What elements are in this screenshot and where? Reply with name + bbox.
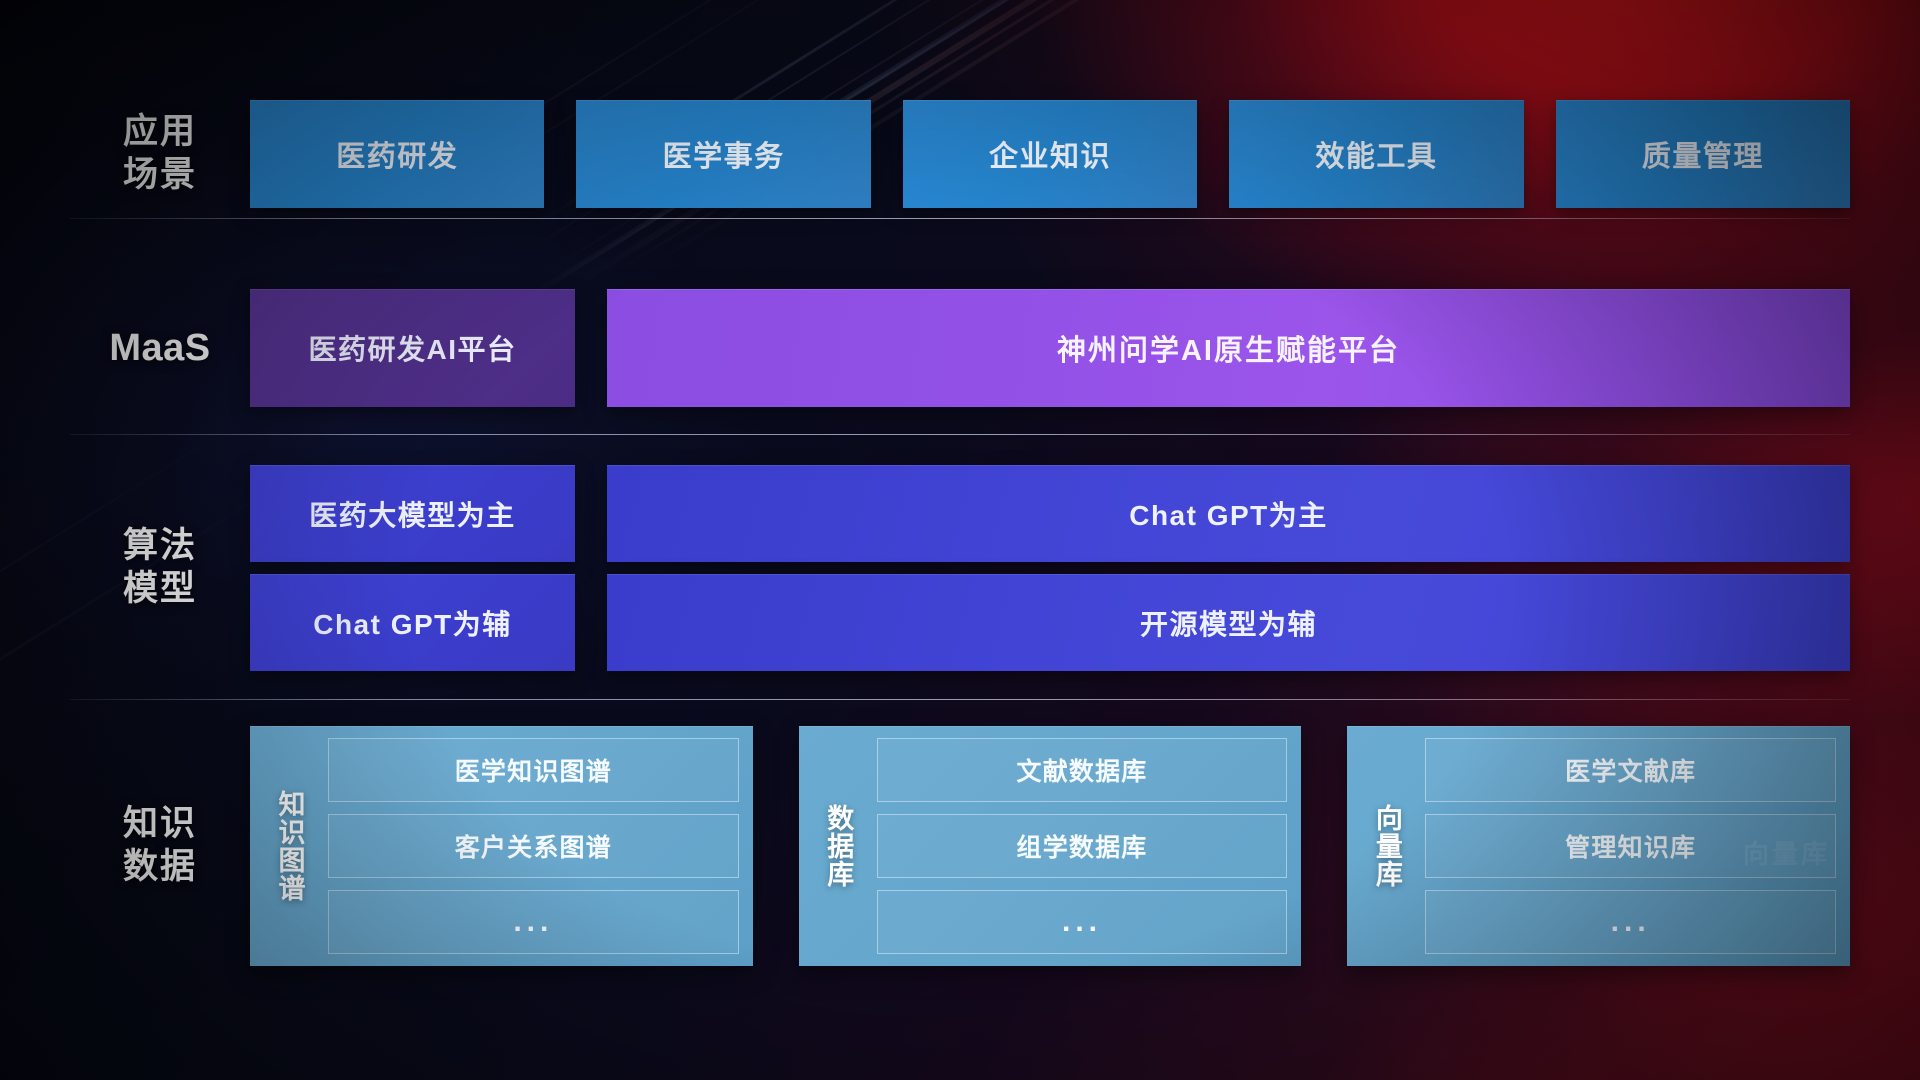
knowledge-item[interactable]: 文献数据库	[877, 738, 1288, 802]
maas-native-platform-box[interactable]: 神州问学AI原生赋能平台	[607, 289, 1850, 407]
layer-application-scenarios: 应用 场景 医药研发 医学事务 企业知识 效能工具 质量管理	[70, 100, 1850, 208]
scenario-box[interactable]: 医药研发	[250, 100, 544, 208]
layer-label-maas: MaaS	[70, 325, 250, 371]
layer-label-knowledge: 知识 数据	[70, 803, 250, 888]
algorithm-box-right[interactable]: Chat GPT为主	[607, 465, 1850, 562]
knowledge-item-more[interactable]: ...	[877, 890, 1288, 954]
knowledge-group[interactable]: 知识图谱 医学知识图谱 客户关系图谱 ...	[250, 726, 753, 966]
algorithm-box-stack: 医药大模型为主 Chat GPT为主 Chat GPT为辅 开源模型为辅	[250, 465, 1850, 671]
layer-label-algorithm: 算法 模型	[70, 525, 250, 610]
maas-box-list: 医药研发AI平台 神州问学AI原生赋能平台	[250, 289, 1850, 407]
architecture-layers: 应用 场景 医药研发 医学事务 企业知识 效能工具 质量管理 MaaS 医药研发…	[0, 0, 1920, 1080]
knowledge-item[interactable]: 客户关系图谱	[328, 814, 739, 878]
scenario-box[interactable]: 医学事务	[576, 100, 870, 208]
knowledge-item-more[interactable]: ...	[1425, 890, 1836, 954]
knowledge-group-label: 向量库	[1359, 738, 1413, 954]
knowledge-group[interactable]: 向量库 医学文献库 管理知识库 ... 向量库	[1347, 726, 1850, 966]
scenario-box-list: 医药研发 医学事务 企业知识 效能工具 质量管理	[250, 100, 1850, 208]
layer-divider	[70, 434, 1850, 435]
algorithm-row-secondary: Chat GPT为辅 开源模型为辅	[250, 574, 1850, 671]
scenario-box[interactable]: 企业知识	[903, 100, 1197, 208]
knowledge-item[interactable]: 医学文献库	[1425, 738, 1836, 802]
algorithm-box-left[interactable]: Chat GPT为辅	[250, 574, 575, 671]
knowledge-item-list: 医学文献库 管理知识库 ...	[1425, 738, 1836, 954]
layer-algorithm-models: 算法 模型 医药大模型为主 Chat GPT为主 Chat GPT为辅 开源模型…	[70, 465, 1850, 671]
algorithm-box-right[interactable]: 开源模型为辅	[607, 574, 1850, 671]
knowledge-item[interactable]: 管理知识库	[1425, 814, 1836, 878]
knowledge-item-list: 医学知识图谱 客户关系图谱 ...	[328, 738, 739, 954]
layer-maas: MaaS 医药研发AI平台 神州问学AI原生赋能平台	[70, 289, 1850, 407]
layer-knowledge-data: 知识 数据 知识图谱 医学知识图谱 客户关系图谱 ... 数据库 文献数据库 组…	[70, 726, 1850, 966]
maas-platform-box[interactable]: 医药研发AI平台	[250, 289, 575, 407]
algorithm-box-left[interactable]: 医药大模型为主	[250, 465, 575, 562]
knowledge-item-list: 文献数据库 组学数据库 ...	[877, 738, 1288, 954]
knowledge-group-label: 数据库	[811, 738, 865, 954]
knowledge-group-label: 知识图谱	[262, 738, 316, 954]
knowledge-item-more[interactable]: ...	[328, 890, 739, 954]
knowledge-group-list: 知识图谱 医学知识图谱 客户关系图谱 ... 数据库 文献数据库 组学数据库 .…	[250, 726, 1850, 966]
knowledge-item[interactable]: 医学知识图谱	[328, 738, 739, 802]
knowledge-group[interactable]: 数据库 文献数据库 组学数据库 ...	[799, 726, 1302, 966]
scenario-box[interactable]: 质量管理	[1556, 100, 1850, 208]
layer-divider	[70, 699, 1850, 700]
scenario-box[interactable]: 效能工具	[1229, 100, 1523, 208]
slide-canvas: 应用 场景 医药研发 医学事务 企业知识 效能工具 质量管理 MaaS 医药研发…	[0, 0, 1920, 1080]
knowledge-item[interactable]: 组学数据库	[877, 814, 1288, 878]
algorithm-row-primary: 医药大模型为主 Chat GPT为主	[250, 465, 1850, 562]
layer-label-scenarios: 应用 场景	[70, 111, 250, 196]
layer-divider	[70, 218, 1850, 219]
